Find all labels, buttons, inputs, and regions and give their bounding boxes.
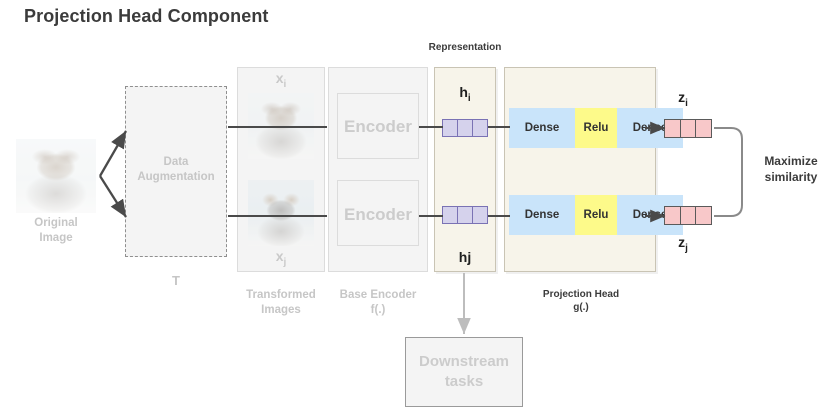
similarity-bracket bbox=[714, 128, 742, 216]
arrow-original-to-augmentation-bottom bbox=[100, 176, 126, 217]
diagram-canvas: Projection Head Component Representation… bbox=[0, 0, 834, 414]
connector-overlay bbox=[0, 0, 834, 414]
arrow-original-to-augmentation-top bbox=[100, 131, 126, 176]
